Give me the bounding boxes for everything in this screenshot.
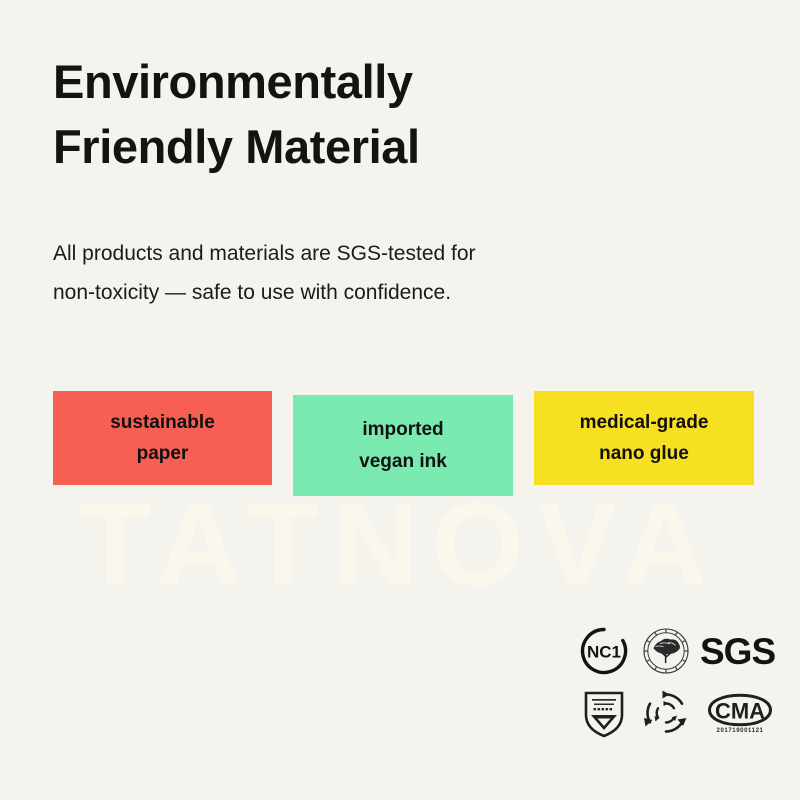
certification-badge-row-2: CMA 201719001121 (573, 684, 783, 742)
brand-watermark: TATNOVA (0, 486, 800, 604)
recycling-icon (635, 685, 697, 741)
forest-tree-seal-icon (635, 623, 697, 679)
material-chip-line-2: vegan ink (359, 446, 447, 477)
shield-quality-icon (573, 685, 635, 741)
page-description-line-1: All products and materials are SGS-teste… (53, 235, 693, 274)
material-chip-line-1: sustainable (110, 407, 215, 438)
page-title-line-2: Friendly Material (53, 115, 753, 180)
page-description: All products and materials are SGS-teste… (53, 235, 693, 313)
page-description-line-2: non-toxicity — safe to use with confiden… (53, 274, 693, 313)
sgs-icon: SGS (697, 623, 783, 679)
cma-icon: CMA 201719001121 (697, 685, 783, 741)
material-chip-line-1: medical-grade (580, 407, 709, 438)
material-chip-imported-vegan-ink: imported vegan ink (293, 395, 513, 496)
cma-certificate-number: 201719001121 (717, 728, 764, 734)
nc1-icon: NC1 (573, 623, 635, 679)
nc1-label: NC1 (587, 643, 621, 662)
certification-badge-group: NC1 (573, 622, 783, 750)
material-chip-label: imported vegan ink (359, 414, 447, 477)
sgs-label: SGS (697, 633, 775, 670)
cma-label: CMA (715, 698, 765, 723)
material-chip-line-2: nano glue (580, 438, 709, 469)
material-chip-label: sustainable paper (110, 407, 215, 470)
page-title-line-1: Environmentally (53, 50, 753, 115)
material-chip-group: sustainable paper imported vegan ink med… (53, 391, 763, 501)
material-chip-sustainable-paper: sustainable paper (53, 391, 272, 485)
certification-badge-row-1: NC1 (573, 622, 783, 680)
material-chip-label: medical-grade nano glue (580, 407, 709, 470)
material-chip-line-1: imported (359, 414, 447, 445)
material-chip-medical-grade-nano-glue: medical-grade nano glue (534, 391, 754, 485)
material-chip-line-2: paper (110, 438, 215, 469)
page-title: Environmentally Friendly Material (53, 50, 753, 180)
